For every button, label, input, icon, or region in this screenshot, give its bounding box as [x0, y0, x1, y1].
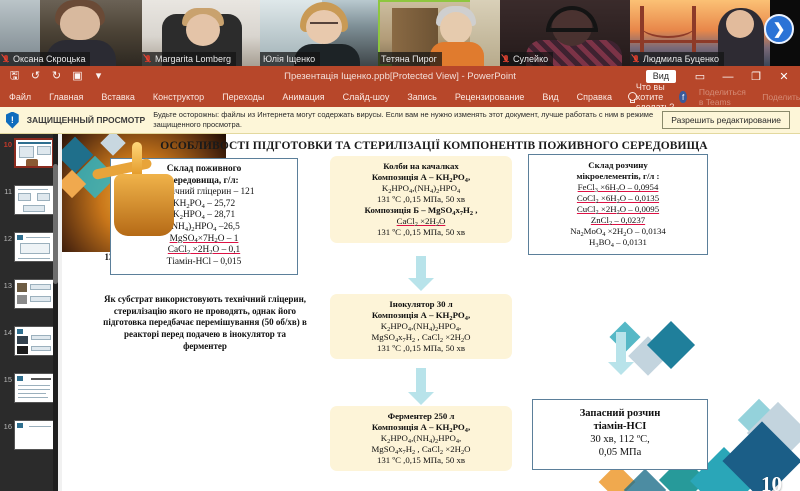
tab-animations[interactable]: Анимация: [273, 87, 333, 107]
flasks-line: K2HPO4,(NH4)2HPO4: [334, 183, 508, 194]
slide-number: 10: [761, 472, 782, 491]
powerpoint-window: 🖫 ↺ ↻ ▣ ▾ Презентація Іщенко.ppb[Protect…: [0, 66, 800, 491]
protected-view-bar: ! ЗАЩИЩЕННЫЙ ПРОСМОТР Будьте осторожны: …: [0, 107, 800, 134]
microelements-heading-1: Склад розчину: [533, 160, 703, 171]
microelements-line: H3BO4 – 0,0131: [533, 237, 703, 248]
participant-namebar: Оксана Скроцька: [0, 52, 90, 66]
thumbnail-item[interactable]: 16: [0, 418, 58, 465]
thumbnail-number: 11: [1, 185, 12, 196]
slide-title: ОСОБЛИВОСТІ ПІДГОТОВКИ ТА СТЕРИЛІЗАЦІЇ К…: [78, 140, 790, 152]
fermenter-box: Ферментер 250 л Композиція А – KH2PO4, K…: [330, 406, 512, 471]
tab-insert[interactable]: Вставка: [92, 87, 143, 107]
inoculator-line: MgSO4x7H2 , CaCl2 ×2H2O: [334, 332, 508, 343]
muted-mic-icon: [145, 55, 152, 64]
thumbnail-preview[interactable]: [14, 138, 54, 168]
ribbon-right-actions: f Поделиться в Teams Поделиться: [679, 87, 800, 107]
inoculator-heading: Інокулятор 30 л: [334, 299, 508, 310]
tab-help[interactable]: Справка: [568, 87, 621, 107]
participant-name: Тетяна Пирог: [381, 54, 437, 64]
editor-body: 10 11: [0, 134, 800, 491]
thumbnail-item[interactable]: 12: [0, 230, 58, 277]
nutrient-medium-line: CaCl2 ×2H2O – 0,1: [115, 245, 293, 257]
minimize-icon[interactable]: —: [714, 66, 742, 87]
participant-tile[interactable]: Сулейко: [500, 0, 630, 66]
title-bar: 🖫 ↺ ↻ ▣ ▾ Презентація Іщенко.ppb[Protect…: [0, 66, 800, 87]
participant-namebar: Сулейко: [500, 52, 553, 66]
flow-arrow-down: [608, 332, 634, 375]
fermenter-line: K2HPO4,(NH4)2HPO4,: [334, 433, 508, 444]
enable-editing-button[interactable]: Разрешить редактирование: [662, 111, 790, 129]
participant-namebar: Юлія Іщенко: [260, 52, 320, 66]
participant-name: Оксана Скроцька: [13, 54, 85, 64]
microelements-line: FeCl3 ×6H2O – 0,0954: [533, 182, 703, 193]
participant-tile[interactable]: Оксана Скроцька: [0, 0, 142, 66]
fermenter-line: 131 ºС ,0,15 МПа, 50 хв: [334, 455, 508, 466]
thumbnail-item[interactable]: 14: [0, 324, 58, 371]
thumbnail-preview[interactable]: [14, 185, 54, 215]
tab-review[interactable]: Рецензирование: [446, 87, 534, 107]
tell-me-box[interactable]: Что вы хотите сделать?: [627, 82, 679, 112]
inoculator-box: Інокулятор 30 л Композиція А – KH2PO4, K…: [330, 294, 512, 359]
participant-namebar: Людмила Буценко: [630, 52, 724, 66]
thumbnail-preview[interactable]: [14, 373, 54, 403]
flasks-heading: Колби на качалках: [334, 161, 508, 172]
muted-mic-icon: [3, 55, 10, 64]
flasks-line: CaCl2 ×2H2O: [334, 216, 508, 227]
start-presentation-icon[interactable]: ▣: [71, 70, 84, 83]
thumbnail-number: 15: [1, 373, 12, 384]
flasks-line: 131 ºС ,0,15 МПа, 50 хв: [334, 227, 508, 238]
video-participant-strip: Оксана Скроцька Margarita Lomberg Юлія І…: [0, 0, 800, 66]
flow-arrow-down: [408, 368, 434, 405]
tab-transitions[interactable]: Переходы: [213, 87, 273, 107]
protected-view-label: ЗАЩИЩЕННЫЙ ПРОСМОТР: [27, 115, 146, 125]
microelements-line: ZnCl2 – 0,0237: [533, 215, 703, 226]
participant-name: Людмила Буценко: [643, 54, 719, 64]
thumbnail-number: 12: [1, 232, 12, 243]
inoculator-line: Композиція А – KH2PO4,: [334, 310, 508, 321]
tab-slideshow[interactable]: Слайд-шоу: [334, 87, 399, 107]
thumbnail-item[interactable]: 13: [0, 277, 58, 324]
tab-file[interactable]: Файл: [0, 87, 40, 107]
participant-tile-active-speaker[interactable]: Тетяна Пирог: [378, 0, 500, 66]
slide-canvas[interactable]: ОСОБЛИВОСТІ ПІДГОТОВКИ ТА СТЕРИЛІЗАЦІЇ К…: [58, 134, 800, 491]
thumbnail-number: 10: [1, 138, 12, 149]
microelements-solution-box: Склад розчину мікроелементів, г/л : FeCl…: [528, 154, 708, 255]
thumbnail-item[interactable]: 10: [0, 136, 58, 183]
tell-me-label: Что вы хотите сделать?: [636, 82, 679, 112]
customize-qat-icon[interactable]: ▾: [92, 70, 105, 83]
thiamine-stock-solution-box: Запасний розчин тіамін-HCI 30 хв, 112 ºС…: [532, 399, 708, 470]
flasks-on-shakers-box: Колби на качалках Композиція А – KH2PO4,…: [330, 156, 512, 243]
protected-view-message: Будьте осторожны: файлы из Интернета мог…: [153, 110, 654, 130]
tab-view[interactable]: Вид: [533, 87, 567, 107]
microelements-line: CuCl2 ×2H2O – 0,0095: [533, 204, 703, 215]
shield-icon: !: [6, 112, 19, 129]
participant-namebar: Тетяна Пирог: [378, 52, 442, 66]
quick-access-toolbar: 🖫 ↺ ↻ ▣ ▾: [0, 70, 105, 83]
close-icon[interactable]: ✕: [770, 66, 798, 87]
tab-design[interactable]: Конструктор: [144, 87, 213, 107]
participant-namebar: Margarita Lomberg: [142, 52, 236, 66]
inoculator-line: 131 ºС ,0,15 МПа, 50 хв: [334, 343, 508, 354]
thumbnail-item[interactable]: 11: [0, 183, 58, 230]
flasks-line: 131 ºС ,0,15 МПа, 50 хв: [334, 194, 508, 205]
thiamine-line: 0,05 МПа: [537, 446, 703, 459]
participant-tile[interactable]: Юлія Іщенко: [260, 0, 378, 66]
slide-thumbnail-pane[interactable]: 10 11: [0, 134, 58, 491]
tab-record[interactable]: Запись: [398, 87, 446, 107]
chevron-right-icon: ❯: [773, 20, 786, 38]
thumbnail-preview[interactable]: [14, 420, 54, 450]
thumbnail-preview[interactable]: [14, 279, 54, 309]
ribbon-display-options-icon[interactable]: ▭: [686, 66, 714, 87]
thumbnail-preview[interactable]: [14, 326, 54, 356]
flow-arrow-down: [408, 256, 434, 291]
thiamine-heading-1: Запасний розчин: [537, 407, 703, 420]
thumbnail-preview[interactable]: [14, 232, 54, 262]
participant-name: Margarita Lomberg: [155, 54, 231, 64]
flasks-line: Композиція Б – MgSO4x7H2 ,: [334, 205, 508, 216]
thumbnail-number: 13: [1, 279, 12, 290]
nutrient-medium-line: Тіамін-HCl – 0,015: [115, 257, 293, 269]
thiamine-heading-2: тіамін-HCI: [537, 420, 703, 433]
participant-tile[interactable]: Margarita Lomberg: [142, 0, 260, 66]
next-participants-page-button[interactable]: ❯: [764, 14, 794, 44]
substrate-note: Як субстрат використовують технічний глі…: [102, 294, 308, 352]
fermenter-heading: Ферментер 250 л: [334, 411, 508, 422]
microelements-line: Na2MoO4 ×2H2O – 0,0134: [533, 226, 703, 237]
save-icon[interactable]: 🖫: [8, 70, 21, 83]
share-to-teams-button[interactable]: Поделиться в Teams: [699, 87, 750, 107]
slide-10: ОСОБЛИВОСТІ ПІДГОТОВКИ ТА СТЕРИЛІЗАЦІЇ К…: [62, 134, 800, 491]
flasks-line: Композиція А – KH2PO4,: [334, 172, 508, 183]
redo-icon[interactable]: ↻: [50, 70, 63, 83]
microelements-line: CoCl2 ×6H2O – 0,0135: [533, 193, 703, 204]
screen: Оксана Скроцька Margarita Lomberg Юлія І…: [0, 0, 800, 491]
inoculator-line: K2HPO4,(NH4)2HPO4,: [334, 321, 508, 332]
microelements-heading-2: мікроелементів, г/л :: [533, 171, 703, 182]
participant-name: Сулейко: [513, 54, 548, 64]
lightbulb-icon: [627, 92, 631, 103]
fermenter-line: MgSO4x7H2 , CaCl2 ×2H2O: [334, 444, 508, 455]
thiamine-line: 30 хв, 112 ºС,: [537, 433, 703, 446]
restore-icon[interactable]: ❐: [742, 66, 770, 87]
muted-mic-icon: [503, 55, 510, 64]
muted-mic-icon: [633, 55, 640, 64]
ribbon-tab-bar: Файл Главная Вставка Конструктор Переход…: [0, 87, 800, 107]
participant-name: Юлія Іщенко: [263, 54, 315, 64]
thumbnail-item[interactable]: 15: [0, 371, 58, 418]
undo-icon[interactable]: ↺: [29, 70, 42, 83]
fermenter-line: Композиція А – KH2PO4,: [334, 422, 508, 433]
thumbnail-number: 14: [1, 326, 12, 337]
tab-home[interactable]: Главная: [40, 87, 92, 107]
thumbnail-number: 16: [1, 420, 12, 431]
participant-tile[interactable]: Людмила Буценко: [630, 0, 770, 66]
share-button[interactable]: Поделиться: [762, 92, 800, 102]
account-avatar[interactable]: f: [679, 91, 687, 103]
